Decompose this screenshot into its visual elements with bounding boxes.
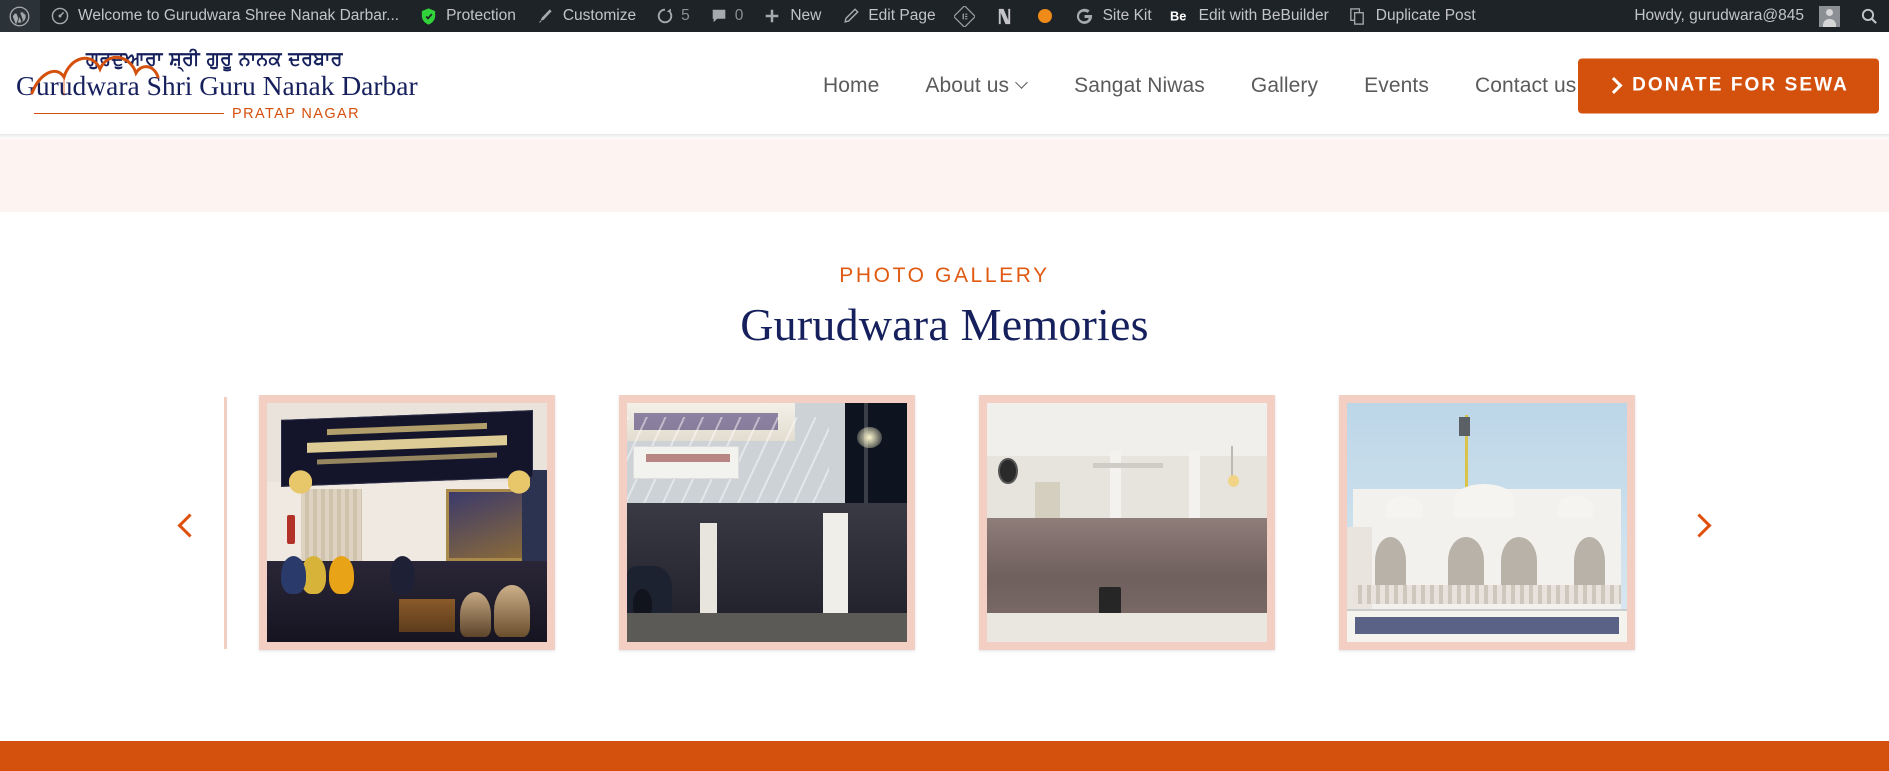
nav-item-about-us[interactable]: About us [902,74,1051,98]
admin-bar-comments[interactable]: 0 [699,0,753,32]
gallery-carousel[interactable] [0,395,1889,655]
chevron-right-icon [1608,80,1620,92]
admin-bar-customize-label: Customize [563,8,636,24]
comment-icon [708,5,730,27]
gallery-eyebrow: PHOTO GALLERY [0,264,1889,288]
gallery-slide-1[interactable] [227,395,587,655]
admin-bar-site-kit[interactable]: Site Kit [1065,0,1161,32]
gallery-photo-night-group [627,403,907,642]
gallery-photo-diwan-hall [987,403,1267,642]
donate-for-sewa-button[interactable]: DONATE FOR SEWA [1578,58,1879,113]
donate-for-sewa-label: DONATE FOR SEWA [1632,75,1849,97]
admin-bar-site-name-label: Welcome to Gurudwara Shree Nanak Darbar.… [78,8,399,24]
admin-bar-protection[interactable]: Protection [408,0,525,32]
admin-bar-edit-page-label: Edit Page [868,8,935,24]
admin-bar-duplicate-post[interactable]: Duplicate Post [1338,0,1485,32]
admin-bar-bebuilder-label: Edit with BeBuilder [1199,8,1329,24]
admin-bar-new-label: New [790,8,821,24]
gallery-track [227,395,1667,655]
wordpress-logo-glyph [8,5,30,27]
site-header: ਗੁਰਦੁਆਰਾ ਸ਼੍ਰੀ ਗੁਰੂ ਨਾਨਕ ਦਰਬਾਰ Gurudwara… [0,32,1889,139]
admin-bar-duplicate-post-label: Duplicate Post [1376,8,1476,24]
user-avatar-icon [1819,6,1840,27]
nav-item-sangat-niwas-label: Sangat Niwas [1074,74,1205,98]
photo-gallery-section: PHOTO GALLERY Gurudwara Memories [0,212,1889,741]
plus-icon [761,5,783,27]
nav-item-gallery-label: Gallery [1251,74,1318,98]
admin-bar-orange-status[interactable] [1025,0,1065,32]
footer-orange-bar [0,741,1889,771]
admin-bar-customize[interactable]: Customize [525,0,645,32]
admin-bar-comments-count: 0 [735,7,744,25]
nav-item-contact-us-label: Contact us [1475,74,1576,98]
photo-frame [1339,395,1635,650]
gallery-photo-gurudwara-facade [1347,403,1627,642]
admin-bar-edit-page[interactable]: Edit Page [830,0,944,32]
admin-bar-protection-label: Protection [446,8,516,24]
admin-bar-new[interactable]: New [752,0,830,32]
nav-item-events[interactable]: Events [1341,74,1452,98]
chevron-down-icon [1017,78,1028,89]
wp-admin-bar: Welcome to Gurudwara Shree Nanak Darbar.… [0,0,1889,32]
google-g-icon [1074,5,1096,27]
search-icon [1858,5,1880,27]
dashboard-icon [49,5,71,27]
elementor-icon [954,5,976,27]
admin-bar-site-kit-label: Site Kit [1103,8,1152,24]
logo-location-label: PRATAP NAGAR [232,106,360,122]
gallery-title: Gurudwara Memories [0,298,1889,351]
gallery-slide-3[interactable] [947,395,1307,655]
svg-text:Be: Be [1170,9,1186,24]
nav-item-home[interactable]: Home [800,74,902,98]
wordpress-logo-icon[interactable] [0,0,40,32]
nav-item-sangat-niwas[interactable]: Sangat Niwas [1051,74,1228,98]
site-logo[interactable]: ਗੁਰਦੁਆਰਾ ਸ਼੍ਰੀ ਗੁਰੂ ਨਾਨਕ ਦਰਬਾਰ Gurudwara… [0,49,360,121]
admin-bar-right-group: Howdy, gurudwara@845 [1625,0,1889,32]
logo-gurmukhi-text: ਗੁਰਦੁਆਰਾ ਸ਼੍ਰੀ ਗੁਰੂ ਨਾਨਕ ਦਰਬਾਰ [8,49,360,71]
nav-item-gallery[interactable]: Gallery [1228,74,1341,98]
updates-icon [654,5,676,27]
shield-icon [417,5,439,27]
main-navigation: Home About us Sangat Niwas Gallery Event… [800,74,1599,98]
gallery-slide-2[interactable] [587,395,947,655]
page-banner-band [0,139,1889,212]
brush-icon [534,5,556,27]
behance-be-icon: Be [1170,5,1192,27]
admin-bar-updates[interactable]: 5 [645,0,699,32]
logo-english-text: Gurudwara Shri Guru Nanak Darbar [8,71,360,101]
yoast-icon [994,5,1016,27]
gallery-photo-kirtan [267,403,547,642]
admin-bar-yoast[interactable] [985,0,1025,32]
admin-bar-updates-count: 5 [681,7,690,25]
nav-item-about-us-label: About us [925,74,1009,98]
photo-frame [259,395,555,650]
pencil-icon [839,5,861,27]
admin-bar-elementor[interactable] [945,0,985,32]
admin-bar-site-name[interactable]: Welcome to Gurudwara Shree Nanak Darbar.… [40,0,408,32]
photo-frame [979,395,1275,650]
duplicate-icon [1347,5,1369,27]
header-shadow [0,134,1889,139]
chevron-left-icon[interactable] [170,508,204,542]
admin-bar-search[interactable] [1849,0,1889,32]
logo-location-row: PRATAP NAGAR [8,106,360,122]
nav-item-home-label: Home [823,74,879,98]
admin-bar-my-account[interactable]: Howdy, gurudwara@845 [1625,0,1849,32]
nav-item-events-label: Events [1364,74,1429,98]
photo-frame [619,395,915,650]
gallery-slide-4[interactable] [1307,395,1667,655]
admin-bar-howdy-label: Howdy, gurudwara@845 [1634,7,1812,25]
logo-divider-rule [34,113,224,115]
chevron-right-icon[interactable] [1685,508,1719,542]
orange-dot-icon [1034,5,1056,27]
admin-bar-bebuilder[interactable]: Be Edit with BeBuilder [1161,0,1338,32]
